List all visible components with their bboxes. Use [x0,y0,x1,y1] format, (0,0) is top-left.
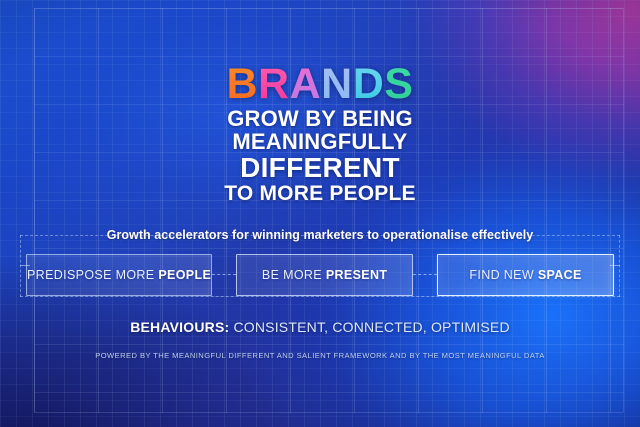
brands-letter-s: S [384,60,413,108]
accelerator-label-emphasis: PRESENT [326,268,388,282]
brands-letter-n: N [321,60,353,108]
growth-accelerators-section: Growth accelerators for winning marketer… [20,227,620,296]
brands-letter-b: B [226,60,258,108]
accelerator-label-prefix: PREDISPOSE MORE [27,268,158,282]
behaviours-label: BEHAVIOURS: [130,319,229,335]
brands-letter-r: R [258,60,290,108]
accelerator-label: BE MORE PRESENT [262,268,387,282]
accelerator-box-row: PREDISPOSE MORE PEOPLE BE MORE PRESENT F… [20,254,620,296]
accelerator-connector-1 [212,254,236,296]
bracket-bottom-rule [20,296,620,297]
accelerator-label-emphasis: SPACE [538,268,582,282]
accelerator-label: FIND NEW SPACE [469,268,581,282]
accelerator-connector-2 [413,254,437,296]
headline-subline-3: DIFFERENT [224,154,415,182]
slide-content: BRANDS GROW BY BEING MEANINGFULLY DIFFER… [0,0,640,427]
growth-accelerators-caption: Growth accelerators for winning marketer… [97,227,544,244]
accelerator-box-be-more-present[interactable]: BE MORE PRESENT [236,254,413,296]
behaviours-values: CONSISTENT, CONNECTED, OPTIMISED [229,319,509,335]
headline-subline-4: TO MORE PEOPLE [224,183,415,204]
presentation-slide: BRANDS GROW BY BEING MEANINGFULLY DIFFER… [0,0,640,427]
accelerator-label-prefix: FIND NEW [469,268,537,282]
accelerator-label: PREDISPOSE MORE PEOPLE [27,268,211,282]
accelerator-box-predispose-more-people[interactable]: PREDISPOSE MORE PEOPLE [26,254,212,296]
brands-letter-d: D [353,60,385,108]
brands-wordmark: BRANDS [224,64,415,105]
accelerator-label-emphasis: PEOPLE [158,268,211,282]
brands-letter-a: A [290,60,322,108]
powered-by-footer: POWERED BY THE MEANINGFUL DIFFERENT AND … [95,351,544,360]
headline-subline-1: GROW BY BEING [224,108,415,130]
headline-block: BRANDS GROW BY BEING MEANINGFULLY DIFFER… [224,64,415,204]
headline-subline-2: MEANINGFULLY [224,131,415,153]
behaviours-line: BEHAVIOURS: CONSISTENT, CONNECTED, OPTIM… [130,319,510,335]
accelerator-box-find-new-space[interactable]: FIND NEW SPACE [437,254,614,296]
accelerator-label-prefix: BE MORE [262,268,326,282]
